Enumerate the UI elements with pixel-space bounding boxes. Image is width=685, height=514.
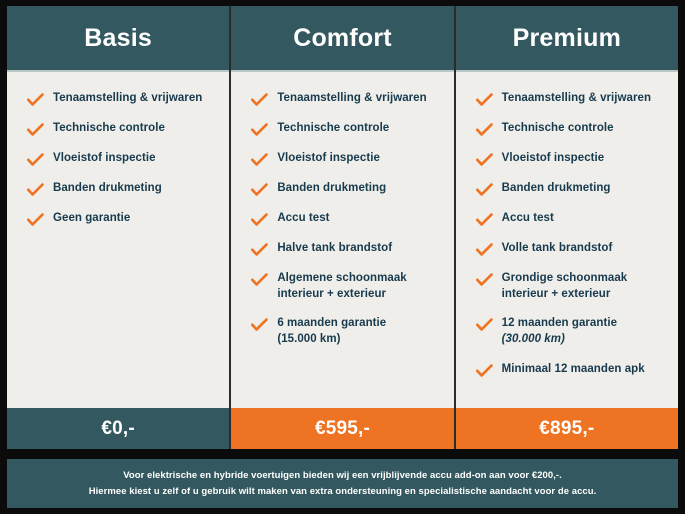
- feature-label-main: Tenaamstelling & vrijwaren: [53, 92, 202, 104]
- feature-item: Banden drukmeting: [476, 181, 668, 197]
- feature-label-main: 6 maanden garantie: [277, 317, 386, 329]
- feature-label: Grondige schoonmaakinterieur + exterieur: [502, 271, 628, 302]
- check-icon: [476, 93, 493, 107]
- check-icon: [27, 213, 44, 227]
- check-icon: [476, 243, 493, 257]
- feature-label: Minimaal 12 maanden apk: [502, 362, 645, 378]
- feature-label: Banden drukmeting: [53, 181, 162, 197]
- feature-label: Accu test: [277, 211, 329, 227]
- plan-title-comfort: Comfort: [293, 26, 392, 51]
- plan-columns: Basis Tenaamstelling & vrijwarenTechnisc…: [7, 6, 678, 408]
- feature-label: Technische controle: [277, 121, 389, 137]
- feature-item: Halve tank brandstof: [251, 241, 443, 257]
- price-band: €0,- €595,- €895,-: [7, 408, 678, 449]
- feature-label-main: Technische controle: [53, 122, 165, 134]
- feature-label-main: Technische controle: [502, 122, 614, 134]
- feature-label: Tenaamstelling & vrijwaren: [53, 91, 202, 107]
- feature-label: Accu test: [502, 211, 554, 227]
- feature-item: Banden drukmeting: [251, 181, 443, 197]
- check-icon: [27, 183, 44, 197]
- feature-label: Vloeistof inspectie: [53, 151, 156, 167]
- feature-item: Vloeistof inspectie: [476, 151, 668, 167]
- check-icon: [476, 213, 493, 227]
- feature-item: Tenaamstelling & vrijwaren: [476, 91, 668, 107]
- feature-label: Halve tank brandstof: [277, 241, 392, 257]
- feature-label-main: Banden drukmeting: [502, 182, 611, 194]
- check-icon: [476, 364, 493, 378]
- check-icon: [251, 123, 268, 137]
- feature-item: Accu test: [476, 211, 668, 227]
- price-cell-basis[interactable]: €0,-: [7, 408, 229, 449]
- feature-label-main: Vloeistof inspectie: [277, 152, 380, 164]
- feature-label-main: Minimaal 12 maanden apk: [502, 363, 645, 375]
- feature-label-main: Accu test: [277, 212, 329, 224]
- feature-item: Volle tank brandstof: [476, 241, 668, 257]
- price-value-comfort: €595,-: [315, 418, 370, 440]
- check-icon: [251, 213, 268, 227]
- feature-label-main: 12 maanden garantie: [502, 317, 617, 329]
- plan-column-comfort[interactable]: Comfort Tenaamstelling & vrijwarenTechni…: [229, 6, 453, 408]
- feature-item: Vloeistof inspectie: [251, 151, 443, 167]
- footer-line-1: Voor elektrische en hybride voertuigen b…: [123, 468, 562, 484]
- feature-item: Vloeistof inspectie: [27, 151, 219, 167]
- feature-list-basis: Tenaamstelling & vrijwarenTechnische con…: [7, 72, 229, 408]
- feature-label: Banden drukmeting: [277, 181, 386, 197]
- feature-label: Technische controle: [502, 121, 614, 137]
- feature-label: Vloeistof inspectie: [277, 151, 380, 167]
- feature-label-main: Vloeistof inspectie: [502, 152, 605, 164]
- footer-line-2: Hiermee kiest u zelf of u gebruik wilt m…: [89, 484, 597, 500]
- feature-item: Technische controle: [27, 121, 219, 137]
- feature-label-main: Volle tank brandstof: [502, 242, 613, 254]
- feature-label: Tenaamstelling & vrijwaren: [502, 91, 651, 107]
- feature-label-main: Vloeistof inspectie: [53, 152, 156, 164]
- check-icon: [251, 183, 268, 197]
- price-value-basis: €0,-: [101, 418, 135, 440]
- feature-label: 6 maanden garantie(15.000 km): [277, 316, 386, 347]
- feature-label: Geen garantie: [53, 211, 130, 227]
- check-icon: [27, 123, 44, 137]
- check-icon: [251, 93, 268, 107]
- feature-label-main: Banden drukmeting: [277, 182, 386, 194]
- feature-label: 12 maanden garantie(30.000 km): [502, 316, 617, 347]
- pricing-comparison-page: Basis Tenaamstelling & vrijwarenTechnisc…: [0, 0, 685, 514]
- feature-label-sub: (15.000 km): [277, 332, 386, 348]
- feature-item: Grondige schoonmaakinterieur + exterieur: [476, 271, 668, 302]
- check-icon: [476, 123, 493, 137]
- feature-item: Algemene schoonmaakinterieur + exterieur: [251, 271, 443, 302]
- feature-label-main: Grondige schoonmaak: [502, 272, 628, 284]
- feature-item: 6 maanden garantie(15.000 km): [251, 316, 443, 347]
- feature-label-main: Algemene schoonmaak: [277, 272, 406, 284]
- feature-label: Algemene schoonmaakinterieur + exterieur: [277, 271, 406, 302]
- feature-item: Minimaal 12 maanden apk: [476, 362, 668, 378]
- check-icon: [476, 273, 493, 287]
- check-icon: [476, 183, 493, 197]
- feature-label-sub: interieur + exterieur: [277, 287, 406, 303]
- feature-item: Accu test: [251, 211, 443, 227]
- feature-item: Tenaamstelling & vrijwaren: [27, 91, 219, 107]
- check-icon: [476, 318, 493, 332]
- feature-list-comfort: Tenaamstelling & vrijwarenTechnische con…: [231, 72, 453, 408]
- feature-label-main: Accu test: [502, 212, 554, 224]
- plan-title-basis: Basis: [84, 26, 152, 51]
- feature-label-sub: (30.000 km): [502, 332, 617, 348]
- feature-label-main: Banden drukmeting: [53, 182, 162, 194]
- footer-note: Voor elektrische en hybride voertuigen b…: [5, 457, 680, 510]
- price-value-premium: €895,-: [539, 418, 594, 440]
- feature-label-main: Tenaamstelling & vrijwaren: [502, 92, 651, 104]
- feature-item: Technische controle: [476, 121, 668, 137]
- feature-label-main: Tenaamstelling & vrijwaren: [277, 92, 426, 104]
- feature-item: 12 maanden garantie(30.000 km): [476, 316, 668, 347]
- feature-label: Banden drukmeting: [502, 181, 611, 197]
- plan-header-comfort: Comfort: [231, 6, 453, 72]
- plan-column-premium[interactable]: Premium Tenaamstelling & vrijwarenTechni…: [454, 6, 678, 408]
- feature-label: Vloeistof inspectie: [502, 151, 605, 167]
- check-icon: [251, 273, 268, 287]
- check-icon: [476, 153, 493, 167]
- feature-label: Tenaamstelling & vrijwaren: [277, 91, 426, 107]
- feature-list-premium: Tenaamstelling & vrijwarenTechnische con…: [456, 72, 678, 408]
- feature-item: Banden drukmeting: [27, 181, 219, 197]
- feature-item: Technische controle: [251, 121, 443, 137]
- plan-title-premium: Premium: [513, 26, 621, 51]
- check-icon: [251, 153, 268, 167]
- price-cell-comfort[interactable]: €595,-: [229, 408, 453, 449]
- check-icon: [27, 153, 44, 167]
- feature-label-main: Halve tank brandstof: [277, 242, 392, 254]
- feature-label-main: Geen garantie: [53, 212, 130, 224]
- plan-column-basis[interactable]: Basis Tenaamstelling & vrijwarenTechnisc…: [7, 6, 229, 408]
- feature-item: Tenaamstelling & vrijwaren: [251, 91, 443, 107]
- feature-label: Volle tank brandstof: [502, 241, 613, 257]
- plan-header-basis: Basis: [7, 6, 229, 72]
- check-icon: [27, 93, 44, 107]
- feature-label-main: Technische controle: [277, 122, 389, 134]
- plans-card: Basis Tenaamstelling & vrijwarenTechnisc…: [5, 4, 680, 451]
- check-icon: [251, 243, 268, 257]
- feature-label-sub: interieur + exterieur: [502, 287, 628, 303]
- check-icon: [251, 318, 268, 332]
- feature-item: Geen garantie: [27, 211, 219, 227]
- feature-label: Technische controle: [53, 121, 165, 137]
- plan-header-premium: Premium: [456, 6, 678, 72]
- price-cell-premium[interactable]: €895,-: [454, 408, 678, 449]
